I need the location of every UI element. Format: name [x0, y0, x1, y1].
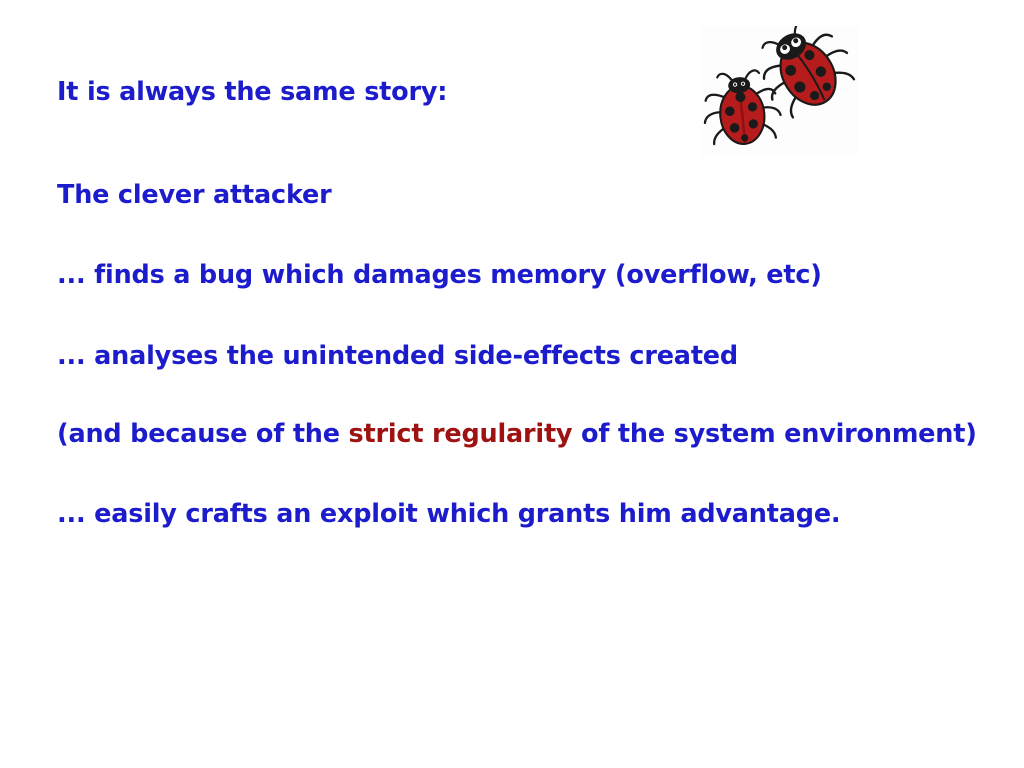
- slide-line-4: ... analyses the unintended side-effects…: [57, 344, 977, 370]
- ladybugs-image: [700, 26, 858, 156]
- slide-line-5: (and because of the strict regularity of…: [57, 422, 977, 448]
- slide-line-6: ... easily crafts an exploit which grant…: [57, 502, 977, 528]
- slide-line-2: The clever attacker: [57, 183, 977, 209]
- slide-line-5-suffix: of the system environment): [572, 419, 976, 449]
- slide-canvas: It is always the same story: The clever …: [0, 0, 1024, 768]
- slide-line-5-highlight: strict regularity: [349, 419, 573, 449]
- slide-line-5-prefix: (and because of the: [57, 419, 349, 449]
- slide-line-3: ... finds a bug which damages memory (ov…: [57, 263, 977, 289]
- ladybug-lower-left: [700, 68, 783, 148]
